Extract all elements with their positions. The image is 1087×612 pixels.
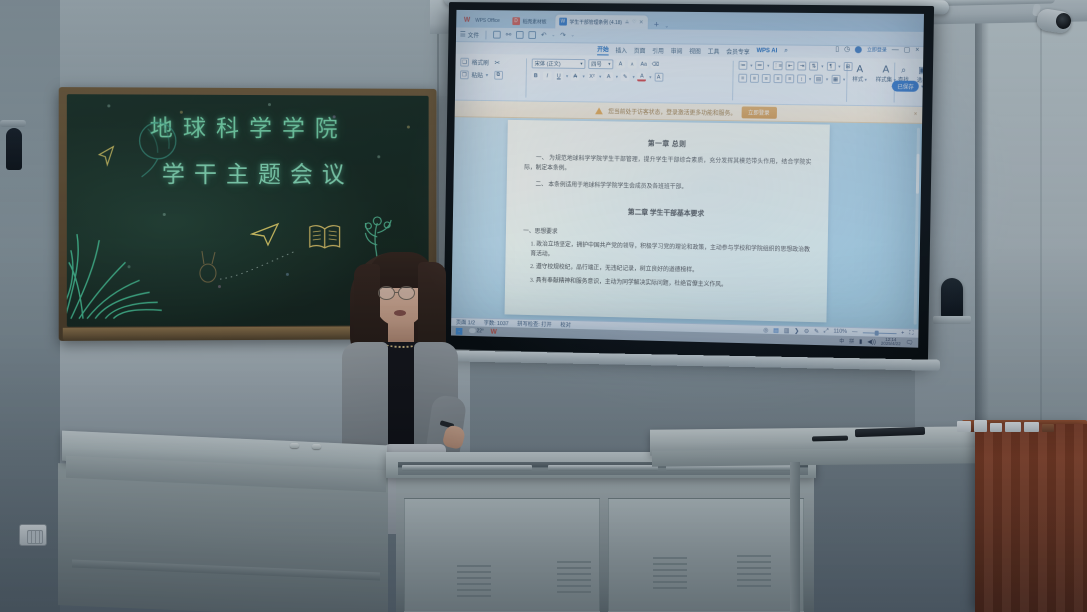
box-item-3 bbox=[990, 423, 1002, 432]
teacher-podium bbox=[396, 476, 814, 612]
ribbon-group-clipboard: ❏ 格式刷 ✂ ❐ 粘贴 ▾ ⧉ bbox=[460, 56, 503, 82]
right-table-leg bbox=[790, 462, 800, 612]
read-view-icon[interactable]: ⊖ bbox=[804, 327, 809, 334]
rabbit-drawing-icon bbox=[188, 245, 228, 285]
desk-knob-2[interactable] bbox=[312, 444, 321, 449]
redo-dropdown-icon[interactable]: ⌄ bbox=[571, 32, 575, 38]
box-item-5 bbox=[1024, 422, 1039, 432]
notification-icon[interactable]: 🗨 bbox=[906, 339, 914, 346]
strikethrough-button[interactable]: A bbox=[571, 72, 580, 81]
blackboard-subtitle: 学干主题会议 bbox=[67, 155, 429, 190]
box-item-1 bbox=[957, 421, 971, 432]
paste-icon[interactable]: ❐ bbox=[460, 70, 469, 79]
align-justify-icon[interactable]: ≡ bbox=[773, 74, 782, 83]
align-center-icon[interactable]: ≡ bbox=[750, 74, 759, 83]
print-preview-icon[interactable] bbox=[528, 31, 536, 39]
weather-temperature: 22° bbox=[477, 328, 484, 334]
file-menu-button[interactable]: ☰ 文件 bbox=[460, 30, 479, 39]
banner-login-button[interactable]: 立即登录 bbox=[741, 106, 776, 118]
tab-document[interactable]: W 学生干部管理条例 (4.18) ⟁ ♡ × bbox=[555, 15, 648, 30]
left-wall-panel bbox=[0, 0, 60, 612]
desk-knob-1[interactable] bbox=[290, 443, 299, 448]
list-bullets-icon[interactable]: ≔ bbox=[738, 61, 747, 70]
chapter-2-heading: 第二章 学生干部基本要求 bbox=[506, 205, 828, 221]
tab-wps-home[interactable]: W WPS Office bbox=[460, 15, 506, 28]
banner-message: 您当前处于访客状态，登录激活更多功能和服务。 bbox=[608, 106, 736, 117]
sort-icon[interactable]: ⇅ bbox=[809, 62, 818, 71]
save-icon[interactable] bbox=[493, 31, 501, 39]
podium-vent-4 bbox=[737, 555, 771, 589]
podium-door-right[interactable] bbox=[608, 498, 804, 612]
ribbon-group-paragraph: ≔▾ ≕▾ ⋮≡ ⇤ ⇥ ⇅▾ ¶▾ ⊞ ≡ ≡ ≡ bbox=[738, 59, 852, 86]
ime-indicator[interactable]: 中 bbox=[839, 337, 844, 344]
decrease-indent-icon[interactable]: ⇤ bbox=[786, 61, 795, 70]
underline-dropdown-icon[interactable]: ▾ bbox=[566, 73, 568, 79]
ribbon-group-font: 宋体 (正文) ▾ 四号 ▾ A ᴀ Aa ⌫ bbox=[531, 57, 663, 84]
panel-icon[interactable]: ▯ bbox=[835, 45, 839, 53]
speaker-shelf bbox=[933, 316, 971, 324]
chapter-1-paragraph-2: 二、 本条例适用于地球科学学院学生会成员及各班班干部。 bbox=[524, 180, 811, 195]
phonetic-guide-button[interactable]: A bbox=[654, 73, 663, 82]
tab-document-label: 学生干部管理条例 (4.18) bbox=[570, 18, 623, 25]
zoom-out-button[interactable]: — bbox=[852, 329, 858, 335]
chapter-1-paragraph-1: 一、 为规范地球科学学院学生干部管理，提升学生干部综合素质，充分发挥其模范带头作… bbox=[524, 153, 811, 178]
speaker-left-arm bbox=[0, 120, 26, 127]
zoom-slider-knob[interactable] bbox=[874, 330, 878, 335]
glasses-bridge bbox=[395, 292, 399, 293]
line-spacing-icon[interactable]: ↕ bbox=[797, 74, 806, 83]
search-icon[interactable]: ⌕ bbox=[784, 47, 788, 55]
show-marks-icon[interactable]: ¶ bbox=[826, 62, 835, 71]
paste-dropdown-icon[interactable]: ▾ bbox=[486, 72, 488, 78]
redo-icon[interactable]: ↷ bbox=[560, 31, 566, 39]
ribbon-separator-2 bbox=[732, 61, 734, 101]
effects-dropdown-icon[interactable]: ▾ bbox=[616, 74, 618, 80]
web-view-icon[interactable]: ❯ bbox=[794, 327, 799, 334]
paragraph-row-1: ≔▾ ≕▾ ⋮≡ ⇤ ⇥ ⇅▾ ¶▾ ⊞ bbox=[738, 59, 852, 73]
style-normal[interactable]: A 样式 ▾ bbox=[852, 64, 867, 83]
screen-display-area: W WPS Office D 稻壳素材板 W 学生干部管理条例 (4.18) ⟁… bbox=[451, 10, 924, 348]
undo-dropdown-icon[interactable]: ⌄ bbox=[551, 32, 555, 38]
document-canvas[interactable]: 第一章 总则 一、 为规范地球科学学院学生干部管理，提升学生干部综合素质，充分发… bbox=[451, 117, 922, 329]
close-button[interactable]: × bbox=[915, 46, 919, 53]
undo-icon[interactable]: ↶ bbox=[541, 31, 547, 39]
chevron-down-icon-2: ▾ bbox=[608, 61, 610, 67]
edit-icon[interactable]: ✎ bbox=[814, 328, 819, 335]
grow-font-icon[interactable]: A bbox=[616, 59, 625, 68]
ribbon-tab-reference[interactable]: 引用 bbox=[652, 46, 664, 55]
italic-button[interactable]: I bbox=[543, 71, 552, 80]
wps-office-window: W WPS Office D 稻壳素材板 W 学生干部管理条例 (4.18) ⟁… bbox=[451, 10, 924, 348]
bold-button[interactable]: B bbox=[531, 71, 540, 80]
highlight-button[interactable]: ✎ bbox=[621, 72, 630, 81]
paste-label[interactable]: 粘贴 bbox=[471, 71, 483, 80]
tab-wps-home-label: WPS Office bbox=[475, 18, 500, 24]
podium-vent-1 bbox=[457, 565, 491, 599]
ribbon-tab-insert[interactable]: 插入 bbox=[615, 45, 627, 54]
wps-window-controls: ▯ ◷ 立即登录 — ▢ × bbox=[835, 45, 919, 54]
right-table-edge bbox=[652, 447, 978, 466]
wood-grain bbox=[975, 424, 1087, 612]
cut-icon[interactable]: ✂ bbox=[494, 59, 500, 67]
style-set-label: 样式集 bbox=[876, 77, 892, 83]
strike-dropdown-icon[interactable]: ▾ bbox=[583, 73, 585, 79]
tab-docer-label: 稻壳素材板 bbox=[523, 18, 547, 25]
ribbon-tab-review[interactable]: 审阅 bbox=[671, 46, 683, 55]
page-view-icon[interactable]: ▤ bbox=[773, 327, 779, 334]
ribbon-tab-home[interactable]: 开始 bbox=[597, 44, 609, 55]
ribbon-group-styles: A 样式 ▾ A 样式集 ▾ bbox=[852, 64, 896, 83]
document-item-1: 1. 政治立场坚定，拥护中国共产党的领导，积极学习党的理论和政策，主动参与学校和… bbox=[530, 241, 810, 266]
warning-triangle-icon bbox=[596, 107, 604, 114]
weather-widget[interactable]: 22° bbox=[469, 328, 484, 334]
box-item-6 bbox=[1042, 424, 1054, 432]
login-label[interactable]: 立即登录 bbox=[867, 46, 887, 53]
document-item-3: 3. 具有奉献精神和服务意识，主动为同学解决实际问题，杜绝官僚主义作风。 bbox=[530, 276, 810, 292]
minimize-button[interactable]: — bbox=[892, 46, 899, 53]
share-icon[interactable]: ⚯ bbox=[506, 31, 512, 39]
wps-ai-button[interactable]: WPS AI bbox=[756, 48, 777, 54]
clear-format-icon[interactable]: ⌫ bbox=[651, 60, 660, 69]
system-tray: 中 拼 ▮ ◀)) 12:14 2025/4/22 🗨 bbox=[839, 336, 913, 347]
wall-speaker-left bbox=[6, 128, 22, 170]
power-outlet[interactable] bbox=[19, 524, 47, 546]
tab-share-icon[interactable]: ⟁ bbox=[625, 19, 629, 25]
file-menu-label: 文件 bbox=[468, 30, 480, 39]
maximize-button[interactable]: ▢ bbox=[904, 46, 911, 54]
box-item-2 bbox=[974, 420, 987, 432]
increase-indent-icon[interactable]: ⇥ bbox=[798, 61, 807, 70]
quickbar-divider bbox=[486, 30, 487, 39]
wooden-lectern bbox=[975, 424, 1087, 612]
align-left-icon[interactable]: ≡ bbox=[738, 74, 747, 83]
box-item-4 bbox=[1005, 422, 1021, 432]
paste-row: ❐ 粘贴 ▾ ⧉ bbox=[460, 68, 503, 81]
text-effects-button[interactable]: A bbox=[604, 72, 613, 81]
font-size-combo[interactable]: 四号 ▾ bbox=[588, 59, 613, 69]
document-page[interactable]: 第一章 总则 一、 为规范地球科学学院学生干部管理，提升学生干部综合素质，充分发… bbox=[505, 120, 830, 323]
projection-screen: W WPS Office D 稻壳素材板 W 学生干部管理条例 (4.18) ⟁… bbox=[443, 2, 934, 362]
section-1-heading: 一、思想要求 bbox=[523, 227, 810, 243]
paper-plane-icon bbox=[250, 221, 280, 247]
lectern-objects bbox=[957, 418, 1087, 432]
chapter-1-heading: 第一章 总则 bbox=[507, 136, 829, 151]
word-doc-icon: W bbox=[559, 18, 567, 26]
glasses-left-lens-icon bbox=[378, 286, 395, 300]
ime-mode-indicator[interactable]: 拼 bbox=[849, 337, 854, 344]
print-icon[interactable] bbox=[516, 31, 524, 39]
focus-icon[interactable]: ◎ bbox=[763, 326, 768, 333]
ribbon-tab-page[interactable]: 页面 bbox=[634, 45, 646, 54]
ribbon-tab-member[interactable]: 会员专享 bbox=[726, 46, 750, 55]
change-case-icon[interactable]: Aa bbox=[639, 60, 648, 69]
podium-vent-2 bbox=[557, 561, 591, 595]
zoom-in-button[interactable]: + bbox=[901, 330, 904, 336]
banner-close-icon[interactable]: × bbox=[914, 112, 918, 118]
mouth bbox=[394, 310, 406, 316]
document-scrollbar-thumb[interactable] bbox=[916, 154, 920, 194]
podium-vent-3 bbox=[653, 557, 687, 591]
volume-icon[interactable]: ◀)) bbox=[867, 338, 876, 345]
glasses-right-lens-icon bbox=[398, 286, 415, 300]
borders-icon[interactable]: ▦ bbox=[831, 75, 840, 84]
tab-lock-icon[interactable]: ♡ bbox=[632, 19, 636, 25]
chevron-down-icon: ▾ bbox=[580, 61, 582, 67]
paper-plane-icon-small bbox=[97, 145, 115, 167]
paragraph-row-2: ≡ ≡ ≡ ≡ ≡ ↕▾ ▤▾ ▦▾ bbox=[738, 72, 852, 86]
tab-close-icon[interactable]: × bbox=[639, 19, 643, 26]
balloon-drawing-icon bbox=[128, 119, 188, 181]
clock-date: 2025/4/22 bbox=[881, 342, 901, 347]
shading-icon[interactable]: ▤ bbox=[814, 75, 823, 84]
status-proofread[interactable]: 校对 bbox=[560, 321, 571, 329]
fontcolor-dropdown-icon[interactable]: ▾ bbox=[649, 74, 651, 80]
classroom-scene: 地球科学学院 学干主题会议 bbox=[0, 0, 1087, 612]
wps-taskbar-icon[interactable]: W bbox=[490, 328, 496, 335]
underline-button[interactable]: U bbox=[554, 72, 563, 81]
line-numbering-icon[interactable]: ⊞ bbox=[843, 62, 852, 71]
blackboard-title: 地球科学学院 bbox=[67, 108, 429, 143]
outline-view-icon[interactable]: ▥ bbox=[784, 327, 790, 334]
list-multilevel-icon[interactable]: ⋮≡ bbox=[772, 61, 783, 70]
format-painter-row: ❏ 格式刷 ✂ bbox=[460, 56, 503, 69]
align-right-icon[interactable]: ≡ bbox=[762, 74, 771, 83]
ribbon-separator-1 bbox=[525, 58, 527, 97]
font-color-button[interactable]: A bbox=[637, 73, 646, 82]
fit-width-icon[interactable]: ⤢ bbox=[824, 328, 829, 335]
fullscreen-icon[interactable]: ⛶ bbox=[909, 330, 913, 337]
wps-logo-icon: W bbox=[464, 17, 473, 25]
ribbon-tab-view[interactable]: 视图 bbox=[689, 46, 701, 55]
font-name-combo[interactable]: 宋体 (正文) ▾ bbox=[532, 58, 586, 68]
rail-slide-1 bbox=[402, 465, 532, 471]
distribute-icon[interactable]: ≡ bbox=[785, 74, 794, 83]
taskbar-clock[interactable]: 12:14 2025/4/22 bbox=[881, 337, 901, 346]
rail-slide-2 bbox=[548, 465, 658, 471]
wall-corner-shadow bbox=[975, 0, 989, 430]
save-status-button[interactable]: 已保存 bbox=[892, 81, 919, 92]
list-numbering-icon[interactable]: ≕ bbox=[755, 61, 764, 70]
wps-ribbon: ❏ 格式刷 ✂ ❐ 粘贴 ▾ ⧉ bbox=[455, 54, 923, 107]
font-style-row: B I U ▾ A ▾ X² ▾ A ▾ ✎ ▾ A bbox=[531, 69, 663, 83]
shrink-font-icon[interactable]: ᴀ bbox=[628, 60, 637, 69]
format-painter-label: 格式刷 bbox=[472, 58, 489, 67]
avatar[interactable] bbox=[855, 46, 862, 53]
dotted-path-drawing bbox=[218, 247, 298, 283]
settings-icon[interactable]: ◷ bbox=[844, 45, 850, 53]
hamburger-icon: ☰ bbox=[460, 30, 466, 38]
wall-speaker-right bbox=[941, 278, 963, 318]
font-name-value: 宋体 (正文) bbox=[535, 59, 561, 67]
docer-icon: D bbox=[512, 17, 520, 25]
cloud-icon bbox=[469, 328, 476, 333]
superscript-dropdown-icon[interactable]: ▾ bbox=[599, 74, 601, 80]
new-tab-button[interactable]: + bbox=[651, 19, 662, 29]
ribbon-tab-tools[interactable]: 工具 bbox=[708, 46, 720, 55]
remote-control[interactable] bbox=[812, 436, 848, 442]
zoom-slider[interactable] bbox=[862, 332, 896, 334]
superscript-button[interactable]: X² bbox=[588, 72, 597, 81]
tab-docer[interactable]: D 稻壳素材板 bbox=[508, 15, 552, 28]
style-normal-label: 样式 bbox=[852, 77, 863, 83]
font-size-value: 四号 bbox=[591, 60, 602, 68]
copy-icon[interactable]: ⧉ bbox=[494, 71, 503, 80]
network-icon[interactable]: ▮ bbox=[859, 338, 862, 345]
podium-door-left[interactable] bbox=[404, 498, 600, 612]
zoom-level-label[interactable]: 110% bbox=[834, 329, 848, 335]
highlight-dropdown-icon[interactable]: ▾ bbox=[632, 74, 634, 80]
format-painter-icon[interactable]: ❏ bbox=[460, 58, 469, 67]
